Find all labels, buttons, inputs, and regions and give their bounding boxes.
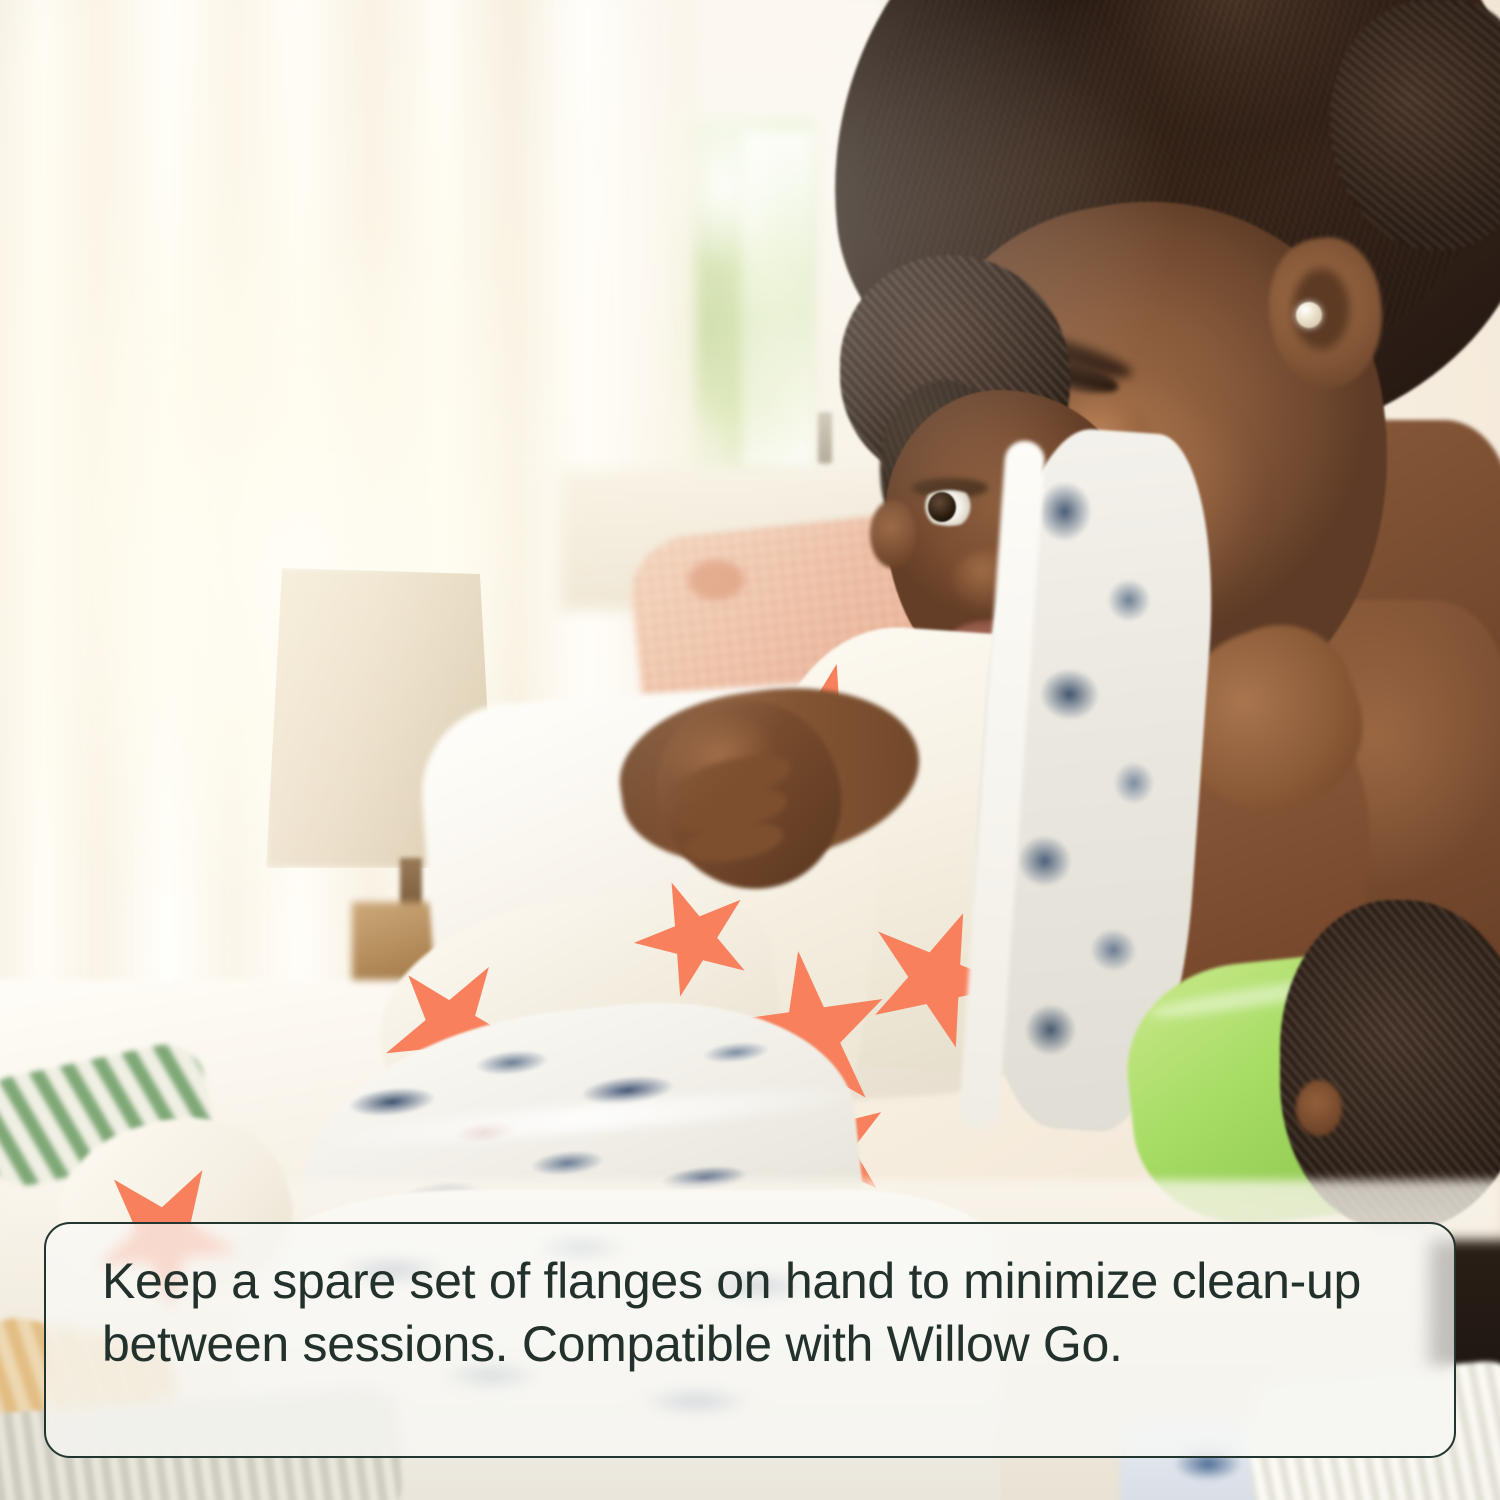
toddler-ear (870, 500, 916, 568)
window-latch (818, 412, 832, 464)
product-lifestyle-image: Keep a spare set of flanges on hand to m… (0, 0, 1500, 1500)
pillow-corner (688, 560, 744, 600)
caption-card: Keep a spare set of flanges on hand to m… (44, 1222, 1456, 1458)
pearl-earring (1296, 302, 1322, 328)
toddler-iris-left (928, 492, 956, 522)
infant-ear (1296, 1080, 1342, 1136)
caption-text: Keep a spare set of flanges on hand to m… (102, 1250, 1410, 1376)
window-glass-highlight (742, 130, 814, 470)
